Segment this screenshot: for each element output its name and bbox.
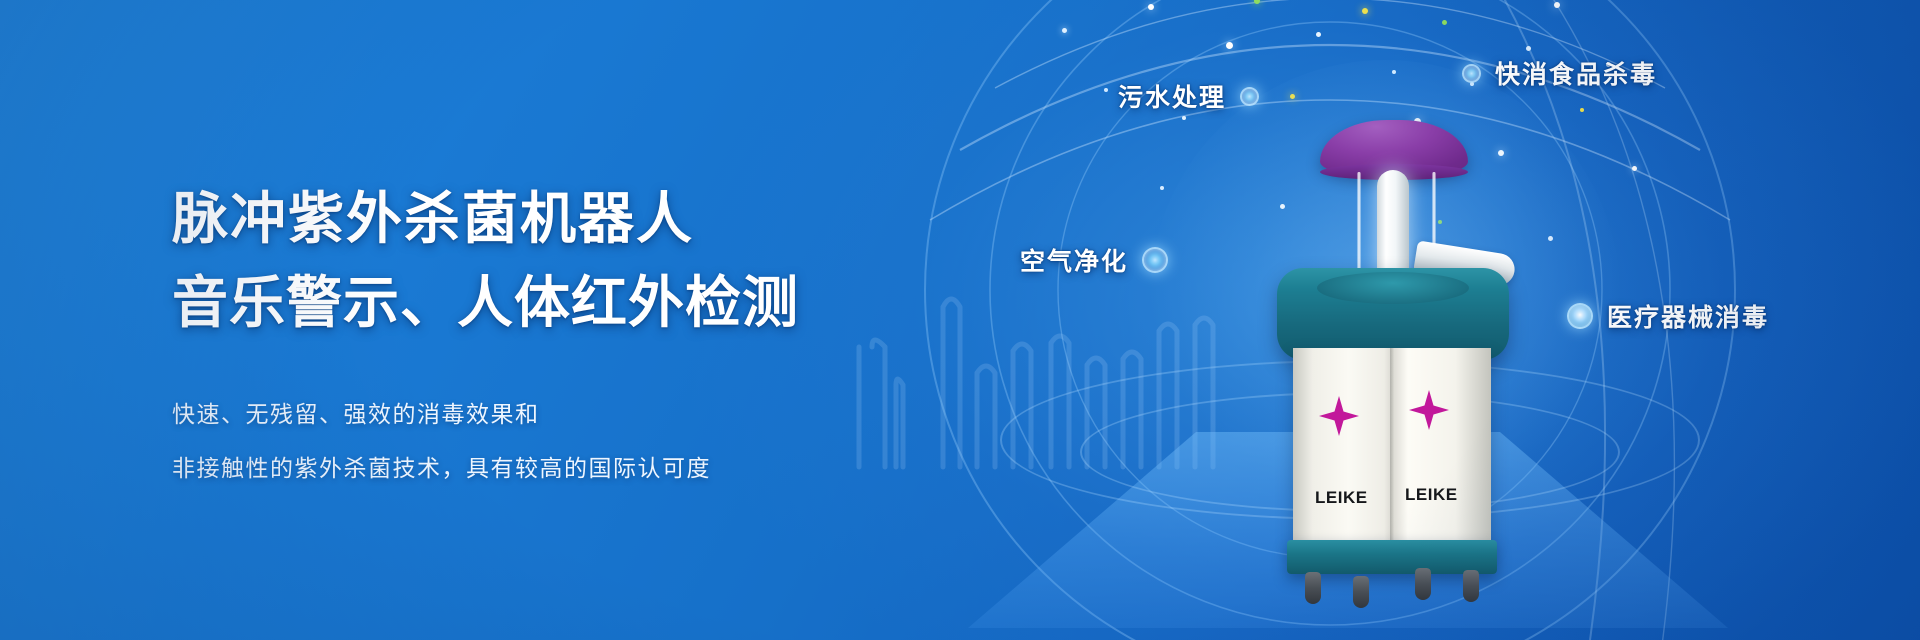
product-caster (1353, 576, 1369, 608)
feature-sewage-treatment[interactable]: 污水处理 (1118, 78, 1259, 114)
product-brand-right: LEIKE (1405, 485, 1458, 505)
feature-label-air-purification: 空气净化 (1020, 242, 1128, 278)
ring-node-icon (1567, 303, 1593, 329)
headline-block: 脉冲紫外杀菌机器人 音乐警示、人体红外检测 快速、无残留、强效的消毒效果和 非接… (172, 178, 932, 496)
product-caster (1463, 570, 1479, 602)
feature-label-food-disinfection: 快消食品杀毒 (1495, 55, 1657, 91)
product-top-disc (1317, 272, 1469, 304)
ring-node-icon (1462, 64, 1481, 83)
product-uv-lamp (1377, 170, 1409, 276)
product-base (1287, 540, 1497, 574)
product-sterilization-robot: LEIKE LEIKE (1265, 120, 1515, 590)
product-caster (1305, 572, 1321, 604)
ring-node-icon (1142, 247, 1168, 273)
description-block: 快速、无残留、强效的消毒效果和 非接触性的紫外杀菌技术，具有较高的国际认可度 (172, 388, 932, 496)
feature-label-medical-device-disinfection: 医疗器械消毒 (1607, 298, 1769, 334)
description-line-2: 非接触性的紫外杀菌技术，具有较高的国际认可度 (172, 442, 932, 496)
feature-label-sewage-treatment: 污水处理 (1118, 78, 1226, 114)
hero-banner: 脉冲紫外杀菌机器人 音乐警示、人体红外检测 快速、无残留、强效的消毒效果和 非接… (0, 0, 1920, 640)
headline-line-2: 音乐警示、人体红外检测 (172, 262, 932, 346)
product-body-column: LEIKE LEIKE (1293, 348, 1491, 544)
four-point-star-icon (1319, 396, 1359, 436)
feature-air-purification[interactable]: 空气净化 (1020, 242, 1168, 278)
feature-medical-device-disinfection[interactable]: 医疗器械消毒 (1567, 298, 1769, 334)
headline-line-1: 脉冲紫外杀菌机器人 (172, 178, 932, 262)
product-body-edge (1390, 348, 1394, 544)
product-brand-left: LEIKE (1315, 488, 1368, 508)
description-line-1: 快速、无残留、强效的消毒效果和 (172, 388, 932, 442)
product-caster (1415, 568, 1431, 600)
product-support-rod-left (1357, 172, 1361, 278)
four-point-star-icon (1409, 390, 1449, 430)
ring-node-icon (1240, 87, 1259, 106)
feature-food-disinfection[interactable]: 快消食品杀毒 (1462, 55, 1657, 91)
